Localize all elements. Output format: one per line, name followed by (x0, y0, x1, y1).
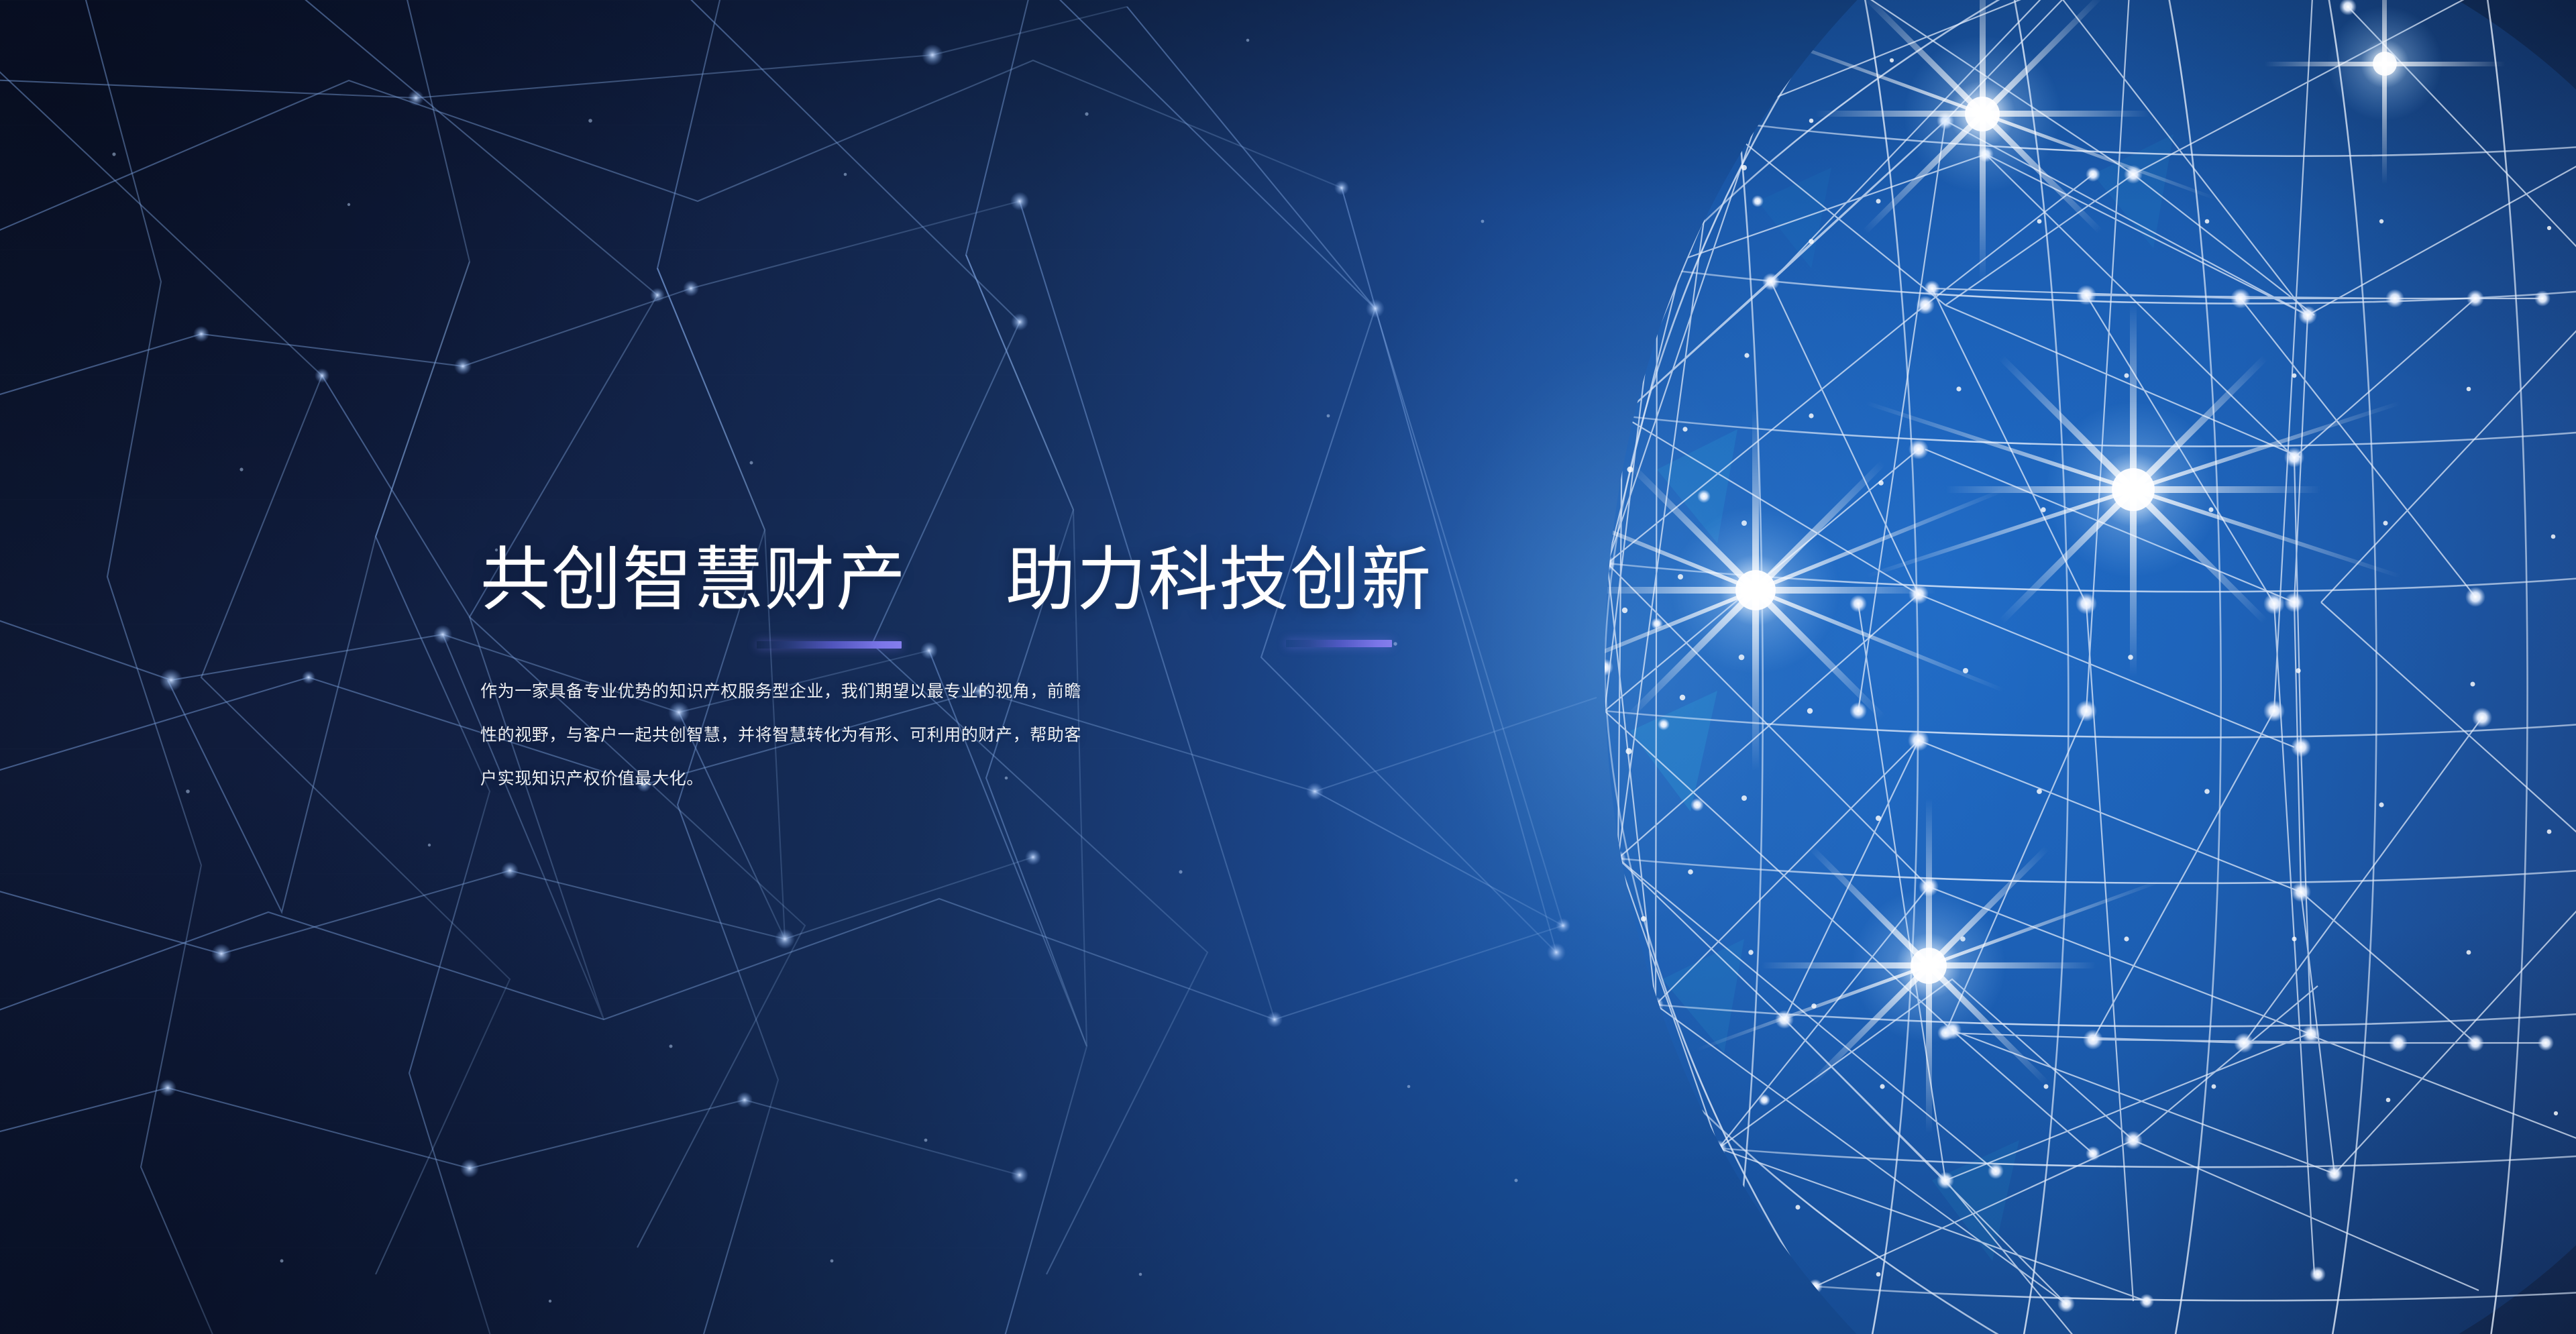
description-line-2: 性的视野，与客户一起共创智慧，并将智慧转化为有形、可利用的财产，帮助客 (480, 713, 1432, 757)
banner-description: 作为一家具备专业优势的知识产权服务型企业，我们期望以最专业的视角，前瞻 性的视野… (480, 669, 1432, 800)
page-title: 共创智慧财产 助力科技创新 (480, 545, 1433, 614)
headline-underline-2 (1286, 640, 1392, 647)
banner-text-block: 共创智慧财产 助力科技创新 作为一家具备专业优势的知识产权服务型企业，我们期望以… (480, 545, 1433, 800)
banner-hero: 共创智慧财产 助力科技创新 作为一家具备专业优势的知识产权服务型企业，我们期望以… (0, 0, 2576, 1334)
description-line-3: 户实现知识产权价值最大化。 (480, 757, 1432, 800)
description-line-1: 作为一家具备专业优势的知识产权服务型企业，我们期望以最专业的视角，前瞻 (480, 669, 1432, 713)
headline-underline-1 (757, 641, 902, 649)
headline-segment-1: 共创智慧财产 (480, 539, 907, 620)
headline-segment-1-wrap: 共创智慧财产 助力科技创新 (480, 545, 1432, 614)
headline-segment-2: 助力科技创新 (1006, 539, 1432, 620)
